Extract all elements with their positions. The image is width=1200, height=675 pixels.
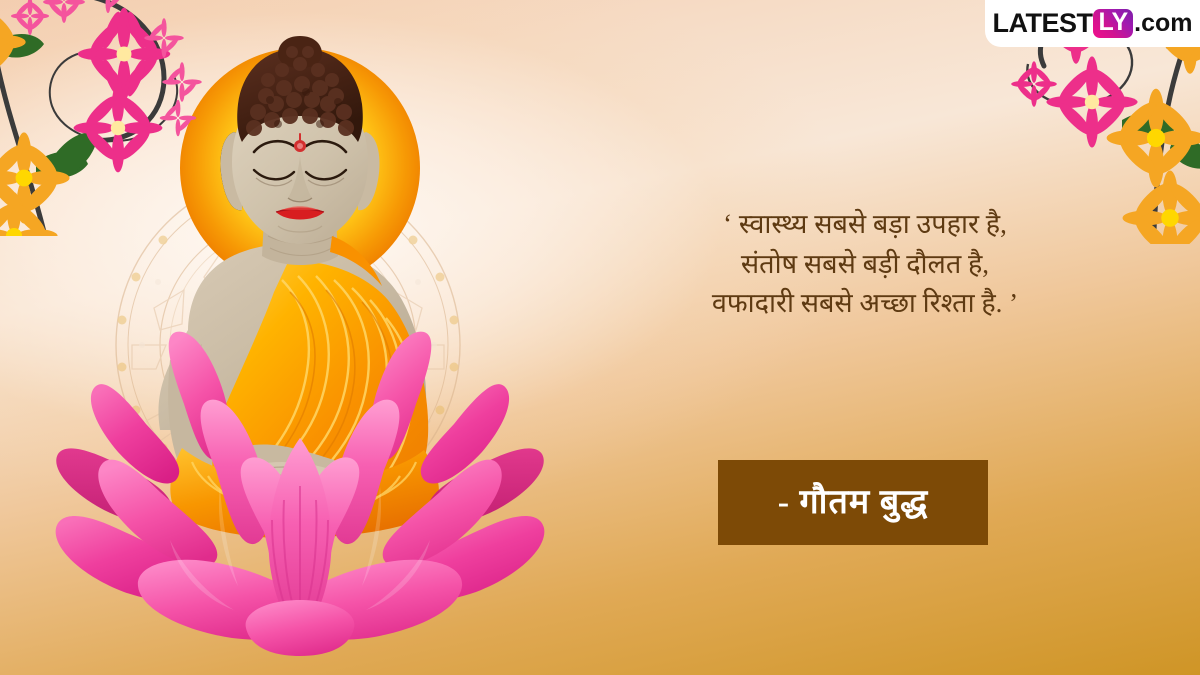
attribution-box: - गौतम बुद्ध bbox=[718, 460, 988, 545]
attribution-text: - गौतम बुद्ध bbox=[778, 486, 929, 520]
quote-line-1: ‘ स्वास्थ्य सबसे बड़ा उपहार है, bbox=[620, 205, 1110, 245]
quote-line-2: संतोष सबसे बड़ी दौलत है, bbox=[620, 245, 1110, 285]
buddha-illustration bbox=[20, 0, 580, 675]
quote-line-3: वफादारी सबसे अच्छा रिश्ता है. ’ bbox=[620, 284, 1110, 324]
poster-canvas: ‘ स्वास्थ्य सबसे बड़ा उपहार है, संतोष सब… bbox=[0, 0, 1200, 675]
quote-block: ‘ स्वास्थ्य सबसे बड़ा उपहार है, संतोष सब… bbox=[620, 205, 1110, 324]
logo-text-dotcom: .com bbox=[1134, 9, 1192, 38]
logo-badge-ly: LY bbox=[1093, 9, 1133, 38]
latestly-logo[interactable]: LATESTLY.com bbox=[985, 0, 1200, 47]
logo-text-latest: LATEST bbox=[992, 8, 1092, 39]
